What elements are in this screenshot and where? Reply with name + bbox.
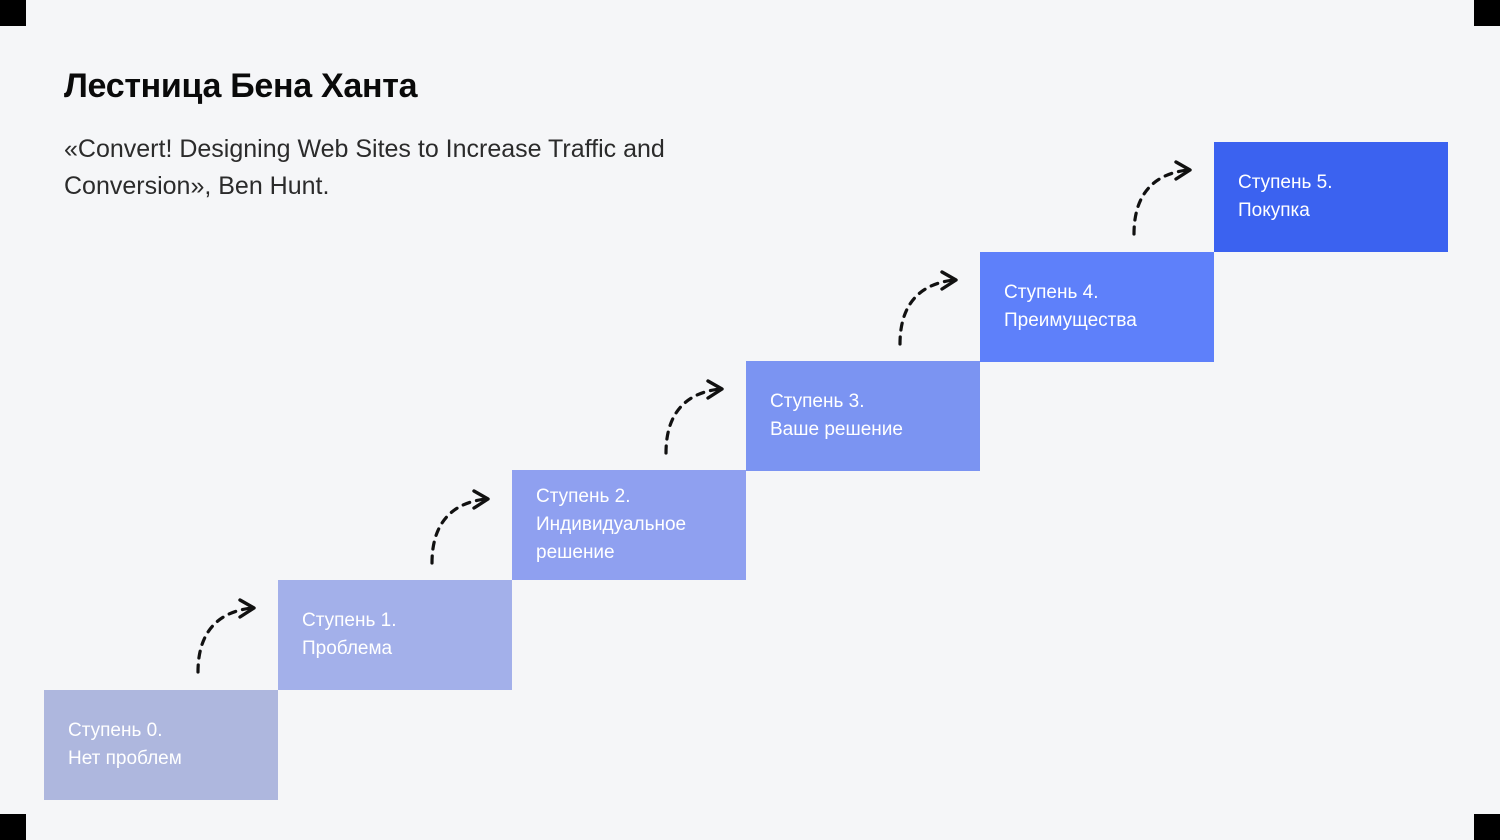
step-label-4: Ступень 4. Преимущества (1004, 279, 1204, 335)
step-label-1: Ступень 1. Проблема (302, 607, 502, 663)
arrow-step-4-to-5 (1126, 160, 1204, 238)
header: Лестница Бена Ханта «Convert! Designing … (64, 66, 784, 204)
step-label-2: Ступень 2. Индивидуальное решение (536, 483, 736, 567)
step-block-5[interactable]: Ступень 5. Покупка (1214, 142, 1448, 252)
corner-marker-bottom-right (1474, 814, 1500, 840)
diagram-card: Лестница Бена Ханта «Convert! Designing … (0, 0, 1500, 840)
arrow-step-2-to-3 (658, 379, 736, 457)
step-block-4[interactable]: Ступень 4. Преимущества (980, 252, 1214, 362)
step-label-0: Ступень 0. Нет проблем (68, 717, 268, 773)
step-block-3[interactable]: Ступень 3. Ваше решение (746, 361, 980, 471)
corner-marker-top-right (1474, 0, 1500, 26)
step-label-5: Ступень 5. Покупка (1238, 169, 1438, 225)
page-subtitle: «Convert! Designing Web Sites to Increas… (64, 131, 704, 205)
corner-marker-bottom-left (0, 814, 26, 840)
arrow-step-1-to-2 (424, 489, 502, 567)
step-label-3: Ступень 3. Ваше решение (770, 388, 970, 444)
arrow-step-0-to-1 (190, 598, 268, 676)
corner-marker-top-left (0, 0, 26, 26)
step-block-2[interactable]: Ступень 2. Индивидуальное решение (512, 470, 746, 580)
step-block-1[interactable]: Ступень 1. Проблема (278, 580, 512, 690)
step-block-0[interactable]: Ступень 0. Нет проблем (44, 690, 278, 800)
page-title: Лестница Бена Ханта (64, 66, 784, 107)
arrow-step-3-to-4 (892, 270, 970, 348)
